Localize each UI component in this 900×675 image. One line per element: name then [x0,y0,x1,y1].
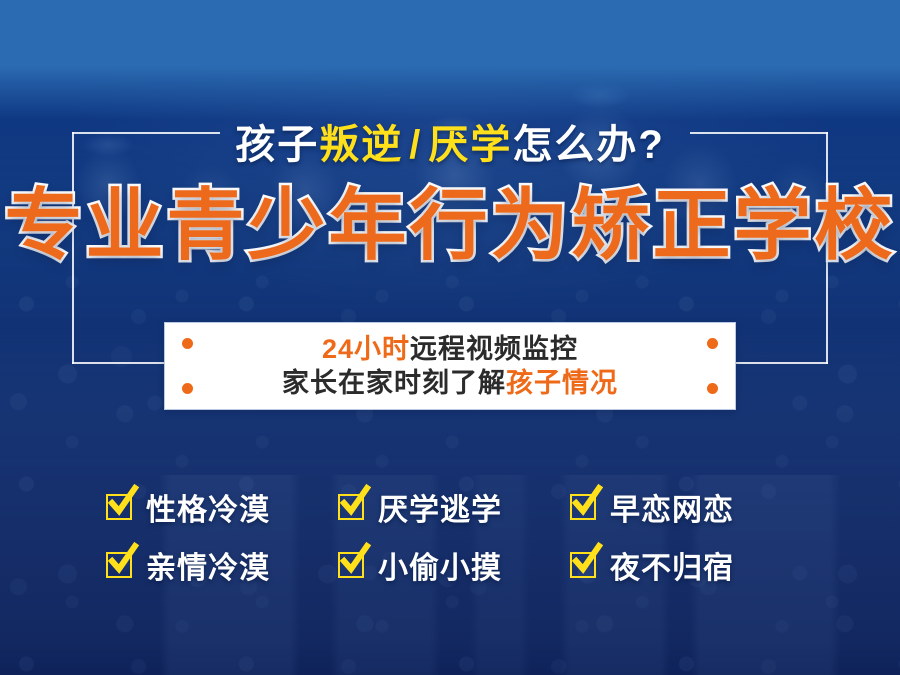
headline-separator: / [403,123,428,167]
page-title: 专业青少年行为矫正学校 [0,186,900,264]
check-box-icon [570,552,596,578]
headline-highlight-rebellion: 叛逆 [319,123,403,167]
list-item: 夜不归宿 [570,536,802,594]
check-box-icon [570,494,596,520]
list-item-label: 小偷小摸 [378,543,502,587]
list-item-label: 早恋网恋 [610,485,734,529]
headline-suffix: 怎么办? [512,123,664,167]
callout-line-1-rest: 远程视频监控 [410,334,578,364]
list-item: 亲情冷漠 [106,536,338,594]
check-box-icon [106,494,132,520]
background-top-fade [0,0,900,120]
list-item-label: 性格冷漠 [146,485,270,529]
check-box-icon [106,552,132,578]
list-item: 性格冷漠 [106,478,338,536]
list-item: 小偷小摸 [338,536,570,594]
headline: 孩子叛逆/厌学怎么办? [0,112,900,170]
symptom-checklist: 性格冷漠 厌学逃学 早恋网恋 亲情冷漠 [106,478,806,594]
list-item: 厌学逃学 [338,478,570,536]
list-item-label: 亲情冷漠 [146,543,270,587]
promo-poster: 孩子叛逆/厌学怎么办? 专业青少年行为矫正学校 24小时远程视频监控 家长在家时… [0,0,900,675]
callout-text-group: 24小时远程视频监控 家长在家时刻了解孩子情况 [165,323,735,409]
callout-line-1-emphasis: 24小时 [322,334,410,364]
callout-box: 24小时远程视频监控 家长在家时刻了解孩子情况 [164,322,736,410]
headline-prefix: 孩子 [235,123,319,167]
callout-line-1: 24小时远程视频监控 [322,333,578,366]
list-item: 早恋网恋 [570,478,802,536]
callout-line-2-rest: 家长在家时刻了解 [282,368,506,398]
callout-line-2: 家长在家时刻了解孩子情况 [282,367,618,400]
callout-line-2-emphasis: 孩子情况 [506,368,618,398]
list-item-label: 厌学逃学 [378,485,502,529]
check-box-icon [338,552,364,578]
check-box-icon [338,494,364,520]
list-item-label: 夜不归宿 [610,543,734,587]
headline-highlight-school-aversion: 厌学 [428,123,512,167]
